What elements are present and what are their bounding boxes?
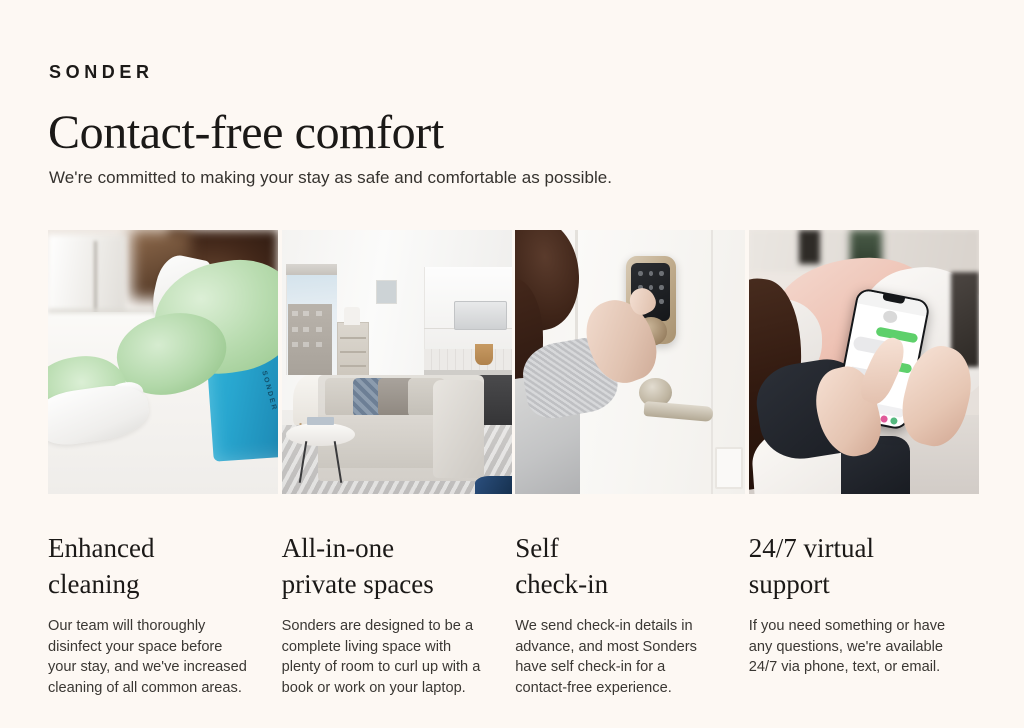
sonder-logo: SONDER <box>49 62 154 83</box>
apartment-living-room-photo <box>282 230 512 494</box>
feature-card-enhanced-cleaning: SONDER Enhanced cleaning Our team will t… <box>48 230 278 698</box>
building-window <box>303 327 309 332</box>
door-panel-seam <box>711 230 713 494</box>
spray-bottle-label: SONDER <box>260 371 278 413</box>
card-body: Our team will thoroughly disinfect your … <box>48 616 253 698</box>
feature-card-grid: SONDER Enhanced cleaning Our team will t… <box>48 230 973 698</box>
shelf-board <box>340 351 367 353</box>
building-window <box>292 327 298 332</box>
contact-free-comfort-page: SONDER Contact-free comfort We're commit… <box>0 0 1024 728</box>
card-body: We send check-in details in advance, and… <box>515 616 720 698</box>
feature-card-24-7-virtual-support: 24/7 virtual support If you need somethi… <box>749 230 979 698</box>
page-subtitle: We're committed to making your stay as s… <box>49 168 612 188</box>
shelf-board <box>340 337 367 339</box>
contact-avatar <box>882 310 898 324</box>
shelf-board <box>340 365 367 367</box>
smart-lock-keypad-photo <box>515 230 745 494</box>
building-window <box>316 311 322 316</box>
gloved-hands-cleaning-counter-photo: SONDER <box>48 230 278 494</box>
keypad-key <box>649 271 653 276</box>
blue-ottoman-corner <box>475 476 512 494</box>
window-shade <box>286 264 337 275</box>
keypad-key <box>659 285 663 290</box>
card-body: Sonders are designed to be a complete li… <box>282 616 487 698</box>
keypad-key <box>659 271 663 276</box>
blurred-dark-object <box>799 230 820 264</box>
app-icon[interactable] <box>891 417 899 425</box>
card-body: If you need something or have any questi… <box>749 616 954 678</box>
card-title: 24/7 virtual support <box>749 530 979 602</box>
building-window <box>292 311 298 316</box>
bookshelf <box>337 322 369 377</box>
building-window <box>303 311 309 316</box>
page-title: Contact-free comfort <box>48 108 444 158</box>
feature-card-self-check-in: Self check-in We send check-in details i… <box>515 230 745 698</box>
keypad-key <box>659 299 663 304</box>
door-panel-molding <box>715 447 743 489</box>
floor-lamp <box>344 307 360 325</box>
city-building-view <box>288 304 332 375</box>
texting-on-phone-couch-photo <box>749 230 979 494</box>
app-icon[interactable] <box>881 415 889 423</box>
card-title: Enhanced cleaning <box>48 530 278 602</box>
building-window <box>316 327 322 332</box>
books-on-table <box>307 417 335 425</box>
sofa-armrest <box>433 380 484 478</box>
building-window <box>303 342 309 347</box>
card-title: All-in-one private spaces <box>282 530 512 602</box>
building-window <box>292 342 298 347</box>
card-title: Self check-in <box>515 530 745 602</box>
keypad-key <box>638 271 642 276</box>
microwave <box>454 301 507 330</box>
kitchen-plant <box>475 344 493 365</box>
wall-art <box>376 280 397 304</box>
building-window <box>316 342 322 347</box>
feature-card-all-in-one-private-spaces: All-in-one private spaces Sonders are de… <box>282 230 512 698</box>
keypad-key <box>649 285 653 290</box>
